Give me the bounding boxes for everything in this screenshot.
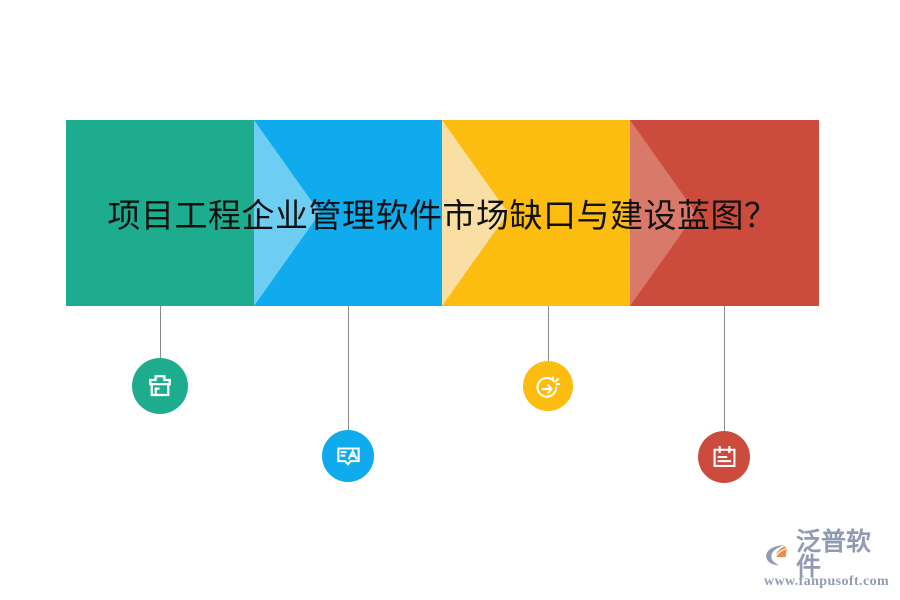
calendar-note-icon [710, 443, 739, 472]
translate-bubble-icon [334, 442, 363, 471]
node-shop[interactable] [132, 358, 188, 414]
node-growth[interactable] [523, 361, 573, 411]
infographic-canvas: 项目工程企业管理软件市场缺口与建设蓝图？ [0, 0, 900, 600]
node-calendar[interactable] [698, 431, 750, 483]
connector-line-calendar [724, 306, 725, 431]
watermark-brand-row: 泛普软件 [762, 538, 894, 572]
connector-line-shop [160, 306, 161, 358]
shop-icon [145, 371, 175, 401]
watermark-url-text: www.fanpusoft.com [764, 574, 889, 590]
segment-market-base [66, 120, 254, 306]
fanpu-logo-icon [762, 540, 792, 570]
banner: 项目工程企业管理软件市场缺口与建设蓝图？ [66, 120, 819, 306]
watermark-brand-text: 泛普软件 [796, 530, 894, 580]
banner-shape [66, 120, 819, 306]
connector-line-translate [348, 306, 349, 430]
growth-arrow-icon [534, 372, 562, 400]
watermark-logo: 泛普软件 www.fanpusoft.com [762, 534, 894, 594]
node-translate[interactable] [322, 430, 374, 482]
connector-line-growth [548, 306, 549, 361]
